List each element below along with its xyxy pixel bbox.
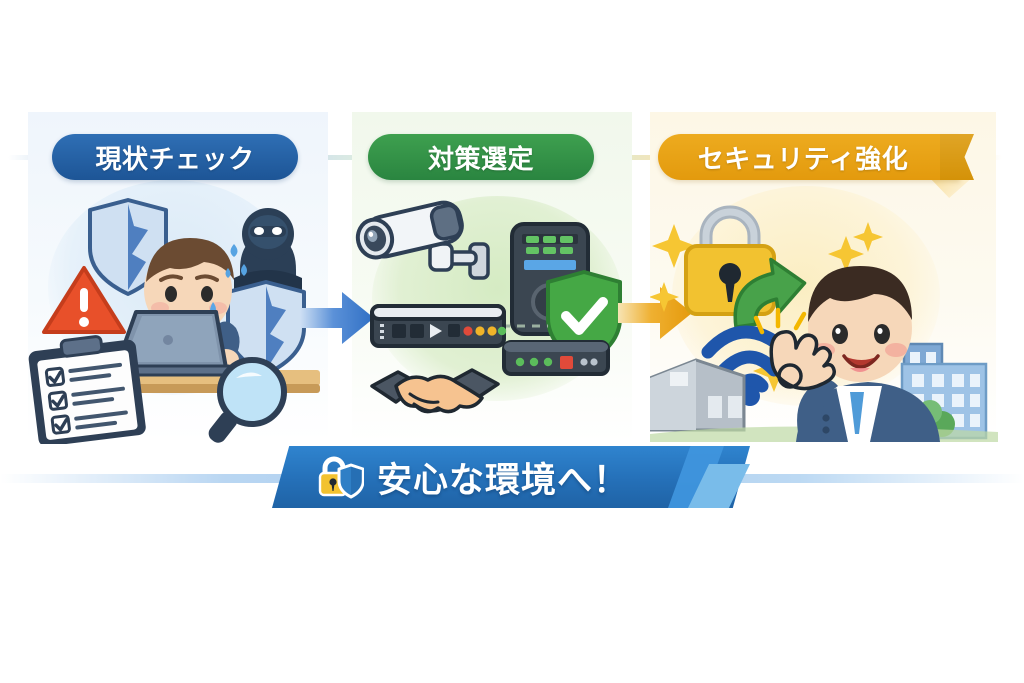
lock-shield-icon	[318, 455, 364, 499]
step-3-label: セキュリティ強化	[698, 139, 908, 176]
hacker-icon	[234, 208, 302, 292]
handshake-icon	[372, 370, 498, 412]
ribbon-label: 安心な環境へ！	[377, 452, 629, 503]
infographic-canvas: 現状チェック 対策選定 セキュリティ強化 安心な環境へ！	[0, 0, 1024, 683]
step-3-illustration	[650, 186, 998, 442]
step-banner-2[interactable]: 対策選定	[368, 134, 594, 180]
step-banner-3[interactable]: セキュリティ強化	[658, 134, 960, 180]
network-router-icon	[372, 306, 506, 346]
network-switch-icon	[504, 342, 608, 374]
clipboard-checklist-icon	[28, 332, 147, 444]
security-camera-icon	[354, 199, 488, 278]
step-2-illustration	[352, 190, 634, 422]
step-1-illustration	[28, 182, 328, 444]
factory-building-icon	[650, 360, 744, 430]
step-banner-1[interactable]: 現状チェック	[52, 134, 298, 180]
bottom-ribbon[interactable]: 安心な環境へ！	[272, 446, 750, 508]
step-1-label: 現状チェック	[95, 139, 254, 176]
step-2-label: 対策選定	[428, 139, 534, 176]
ribbon-content: 安心な環境へ！	[272, 446, 750, 508]
